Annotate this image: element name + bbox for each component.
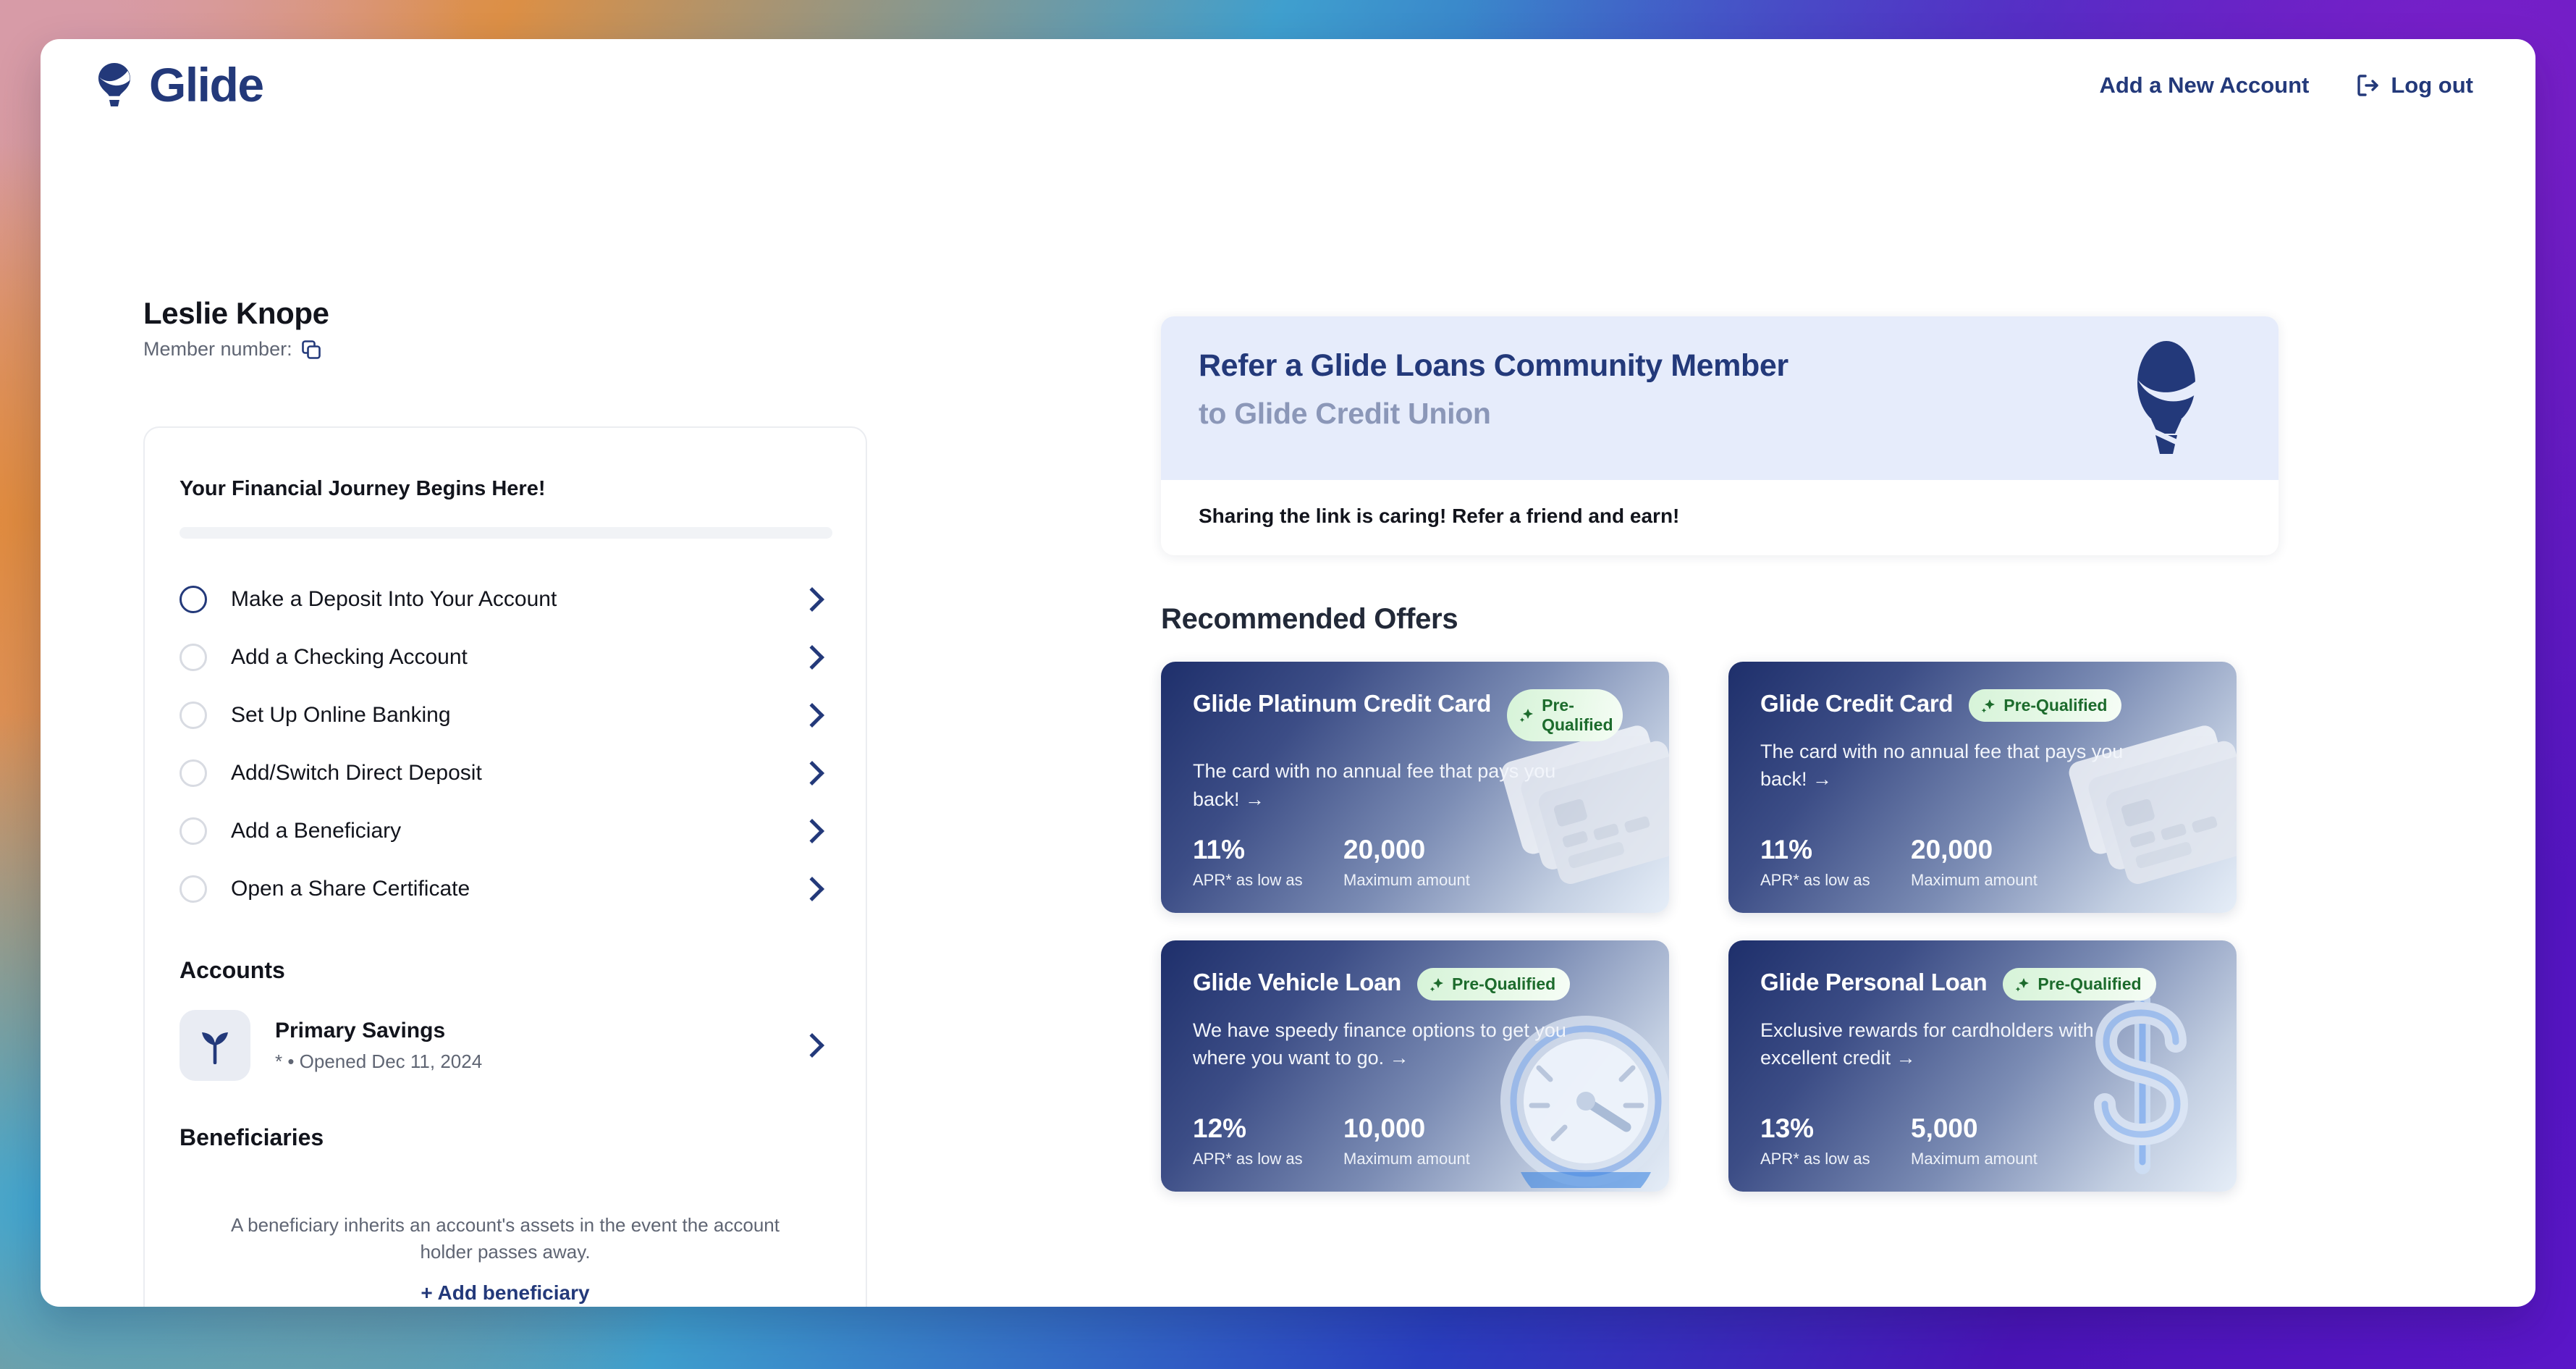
- checklist-item-label: Set Up Online Banking: [231, 703, 803, 728]
- chevron-right-icon: [800, 1033, 824, 1058]
- offer-max-stat: 5,000 Maximum amount: [1911, 1114, 2061, 1168]
- radio-icon[interactable]: [180, 702, 207, 729]
- offer-max-label: Maximum amount: [1911, 1150, 2061, 1168]
- member-number-row: Member number:: [143, 338, 329, 361]
- radio-icon[interactable]: [180, 875, 207, 903]
- checklist-item-direct-deposit[interactable]: Add/Switch Direct Deposit: [180, 744, 831, 802]
- logout-arrow-icon: [2355, 73, 2380, 98]
- offer-apr-value: 11%: [1760, 835, 1911, 865]
- offer-apr-stat: 11% APR* as low as: [1760, 835, 1911, 890]
- main-content: Refer a Glide Loans Community Member to …: [1161, 316, 2279, 1192]
- onboarding-checklist: Make a Deposit Into Your Account Add a C…: [180, 570, 831, 918]
- offer-card-body: Glide Credit Card Pre-Qualified The card…: [1728, 662, 2237, 913]
- checklist-item-label: Add a Beneficiary: [231, 819, 803, 843]
- sparkle-icon: [2014, 977, 2030, 993]
- checklist-item-label: Add/Switch Direct Deposit: [231, 761, 803, 785]
- account-list-item-primary-savings[interactable]: Primary Savings * • Opened Dec 11, 2024: [180, 1010, 831, 1081]
- chevron-right-icon: [800, 587, 824, 612]
- status-badge: Pre-Qualified: [2003, 968, 2155, 1001]
- offer-apr-value: 13%: [1760, 1114, 1911, 1144]
- offer-card-credit-card[interactable]: Glide Credit Card Pre-Qualified The card…: [1728, 662, 2237, 913]
- offer-max-value: 20,000: [1343, 835, 1494, 865]
- checklist-item-label: Add a Checking Account: [231, 645, 803, 670]
- referral-banner[interactable]: Refer a Glide Loans Community Member to …: [1161, 316, 2279, 555]
- offer-max-label: Maximum amount: [1343, 1150, 1494, 1168]
- beneficiaries-heading: Beneficiaries: [180, 1124, 831, 1151]
- offer-apr-label: APR* as low as: [1760, 871, 1911, 890]
- member-info: Leslie Knope Member number:: [143, 296, 329, 361]
- chevron-right-icon: [800, 819, 824, 843]
- offer-card-personal-loan[interactable]: Glide Personal Loan Pre-Qualified Exclus…: [1728, 940, 2237, 1192]
- offer-card-vehicle-loan[interactable]: Glide Vehicle Loan Pre-Qualified We have…: [1161, 940, 1669, 1192]
- referral-title-line1: Refer a Glide Loans Community Member: [1199, 348, 2241, 384]
- member-number-label: Member number:: [143, 338, 292, 361]
- checklist-item-share-certificate[interactable]: Open a Share Certificate: [180, 860, 831, 918]
- offer-max-label: Maximum amount: [1343, 871, 1494, 890]
- account-text: Primary Savings * • Opened Dec 11, 2024: [275, 1019, 803, 1073]
- offer-apr-stat: 12% APR* as low as: [1193, 1114, 1343, 1168]
- offer-stats: 13% APR* as low as 5,000 Maximum amount: [1760, 1114, 2205, 1168]
- offer-card-body: Glide Platinum Credit Card Pre-Qualified…: [1161, 662, 1669, 913]
- offer-apr-stat: 13% APR* as low as: [1760, 1114, 1911, 1168]
- radio-icon[interactable]: [180, 644, 207, 671]
- checklist-item-add-checking[interactable]: Add a Checking Account: [180, 628, 831, 686]
- offer-title: Glide Vehicle Loan: [1193, 968, 1401, 997]
- checklist-item-label: Make a Deposit Into Your Account: [231, 587, 803, 612]
- hot-air-balloon-icon: [2124, 338, 2209, 461]
- status-badge-label: Pre-Qualified: [2003, 696, 2107, 715]
- brand-name: Glide: [149, 61, 263, 109]
- copy-icon[interactable]: [301, 340, 321, 360]
- offer-card-platinum-credit-card[interactable]: Glide Platinum Credit Card Pre-Qualified…: [1161, 662, 1669, 913]
- offer-card-body: Glide Personal Loan Pre-Qualified Exclus…: [1728, 940, 2237, 1192]
- journey-progress-bar: [180, 527, 832, 539]
- status-badge: Pre-Qualified: [1507, 689, 1623, 741]
- onboarding-sidebar: Your Financial Journey Begins Here! Make…: [143, 426, 867, 1307]
- offer-title: Glide Credit Card: [1760, 689, 1953, 718]
- sparkle-icon: [1429, 977, 1445, 993]
- offer-stats: 11% APR* as low as 20,000 Maximum amount: [1760, 835, 2205, 890]
- status-badge-label: Pre-Qualified: [1452, 974, 1555, 994]
- offer-max-label: Maximum amount: [1911, 871, 2061, 890]
- recommended-offers-heading: Recommended Offers: [1161, 603, 2279, 636]
- offer-apr-value: 11%: [1193, 835, 1343, 865]
- checklist-item-label: Open a Share Certificate: [231, 877, 803, 901]
- checklist-item-make-a-deposit[interactable]: Make a Deposit Into Your Account: [180, 570, 831, 628]
- logout-label: Log out: [2391, 72, 2473, 98]
- status-badge-label: Pre-Qualified: [1542, 696, 1613, 735]
- referral-title-line2: to Glide Credit Union: [1199, 397, 2241, 431]
- offer-card-body: Glide Vehicle Loan Pre-Qualified We have…: [1161, 940, 1669, 1192]
- app-header: Glide Add a New Account Log out: [41, 39, 2535, 119]
- offer-stats: 11% APR* as low as 20,000 Maximum amount: [1193, 835, 1637, 890]
- offer-apr-label: APR* as low as: [1193, 871, 1343, 890]
- offer-stats: 12% APR* as low as 10,000 Maximum amount: [1193, 1114, 1637, 1168]
- offer-description: We have speedy finance options to get yo…: [1193, 1016, 1598, 1072]
- accounts-heading: Accounts: [180, 957, 831, 984]
- offer-description: The card with no annual fee that pays yo…: [1760, 738, 2166, 793]
- status-badge-label: Pre-Qualified: [2037, 974, 2141, 994]
- chevron-right-icon: [800, 761, 824, 785]
- status-badge: Pre-Qualified: [1417, 968, 1570, 1001]
- referral-subtext: Sharing the link is caring! Refer a frie…: [1161, 480, 2279, 555]
- offer-apr-label: APR* as low as: [1760, 1150, 1911, 1168]
- journey-title: Your Financial Journey Begins Here!: [180, 477, 831, 501]
- header-actions: Add a New Account Log out: [2099, 72, 2473, 98]
- chevron-right-icon: [800, 645, 824, 670]
- offer-apr-stat: 11% APR* as low as: [1193, 835, 1343, 890]
- offer-card-header: Glide Personal Loan Pre-Qualified: [1760, 968, 2205, 1001]
- offer-card-header: Glide Platinum Credit Card Pre-Qualified: [1193, 689, 1637, 741]
- chevron-right-icon: [800, 703, 824, 728]
- referral-banner-top: Refer a Glide Loans Community Member to …: [1161, 316, 2279, 480]
- offer-max-stat: 20,000 Maximum amount: [1343, 835, 1494, 890]
- offer-card-header: Glide Credit Card Pre-Qualified: [1760, 689, 2205, 722]
- page-title: Leslie Knope: [143, 296, 329, 331]
- offer-apr-label: APR* as low as: [1193, 1150, 1343, 1168]
- chevron-right-icon: [800, 877, 824, 901]
- radio-icon[interactable]: [180, 759, 207, 787]
- sprout-icon: [180, 1010, 250, 1081]
- beneficiaries-note: A beneficiary inherits an account's asse…: [180, 1212, 831, 1265]
- app-window: Glide Add a New Account Log out Leslie K…: [41, 39, 2535, 1307]
- logout-button[interactable]: Log out: [2355, 72, 2473, 98]
- offers-grid: Glide Platinum Credit Card Pre-Qualified…: [1161, 662, 2279, 1192]
- hot-air-balloon-icon: [94, 62, 135, 107]
- checklist-item-online-banking[interactable]: Set Up Online Banking: [180, 686, 831, 744]
- add-new-account-button[interactable]: Add a New Account: [2099, 72, 2309, 98]
- offer-max-stat: 10,000 Maximum amount: [1343, 1114, 1494, 1168]
- sparkle-icon: [1980, 698, 1996, 714]
- offer-max-value: 20,000: [1911, 835, 2061, 865]
- offer-description: Exclusive rewards for cardholders with e…: [1760, 1016, 2166, 1072]
- offer-title: Glide Personal Loan: [1760, 968, 1987, 997]
- account-meta: * • Opened Dec 11, 2024: [275, 1050, 803, 1073]
- sparkle-icon: [1519, 707, 1534, 723]
- status-badge: Pre-Qualified: [1969, 689, 2121, 722]
- brand-logo[interactable]: Glide: [94, 61, 263, 109]
- offer-max-stat: 20,000 Maximum amount: [1911, 835, 2061, 890]
- add-beneficiary-button[interactable]: + Add beneficiary: [180, 1281, 831, 1305]
- offer-apr-value: 12%: [1193, 1114, 1343, 1144]
- offer-card-header: Glide Vehicle Loan Pre-Qualified: [1193, 968, 1637, 1001]
- offer-max-value: 10,000: [1343, 1114, 1494, 1144]
- checklist-item-add-beneficiary[interactable]: Add a Beneficiary: [180, 802, 831, 860]
- account-name: Primary Savings: [275, 1019, 445, 1042]
- radio-icon[interactable]: [180, 817, 207, 845]
- offer-description: The card with no annual fee that pays yo…: [1193, 757, 1598, 813]
- offer-title: Glide Platinum Credit Card: [1193, 689, 1491, 718]
- radio-icon[interactable]: [180, 586, 207, 613]
- offer-max-value: 5,000: [1911, 1114, 2061, 1144]
